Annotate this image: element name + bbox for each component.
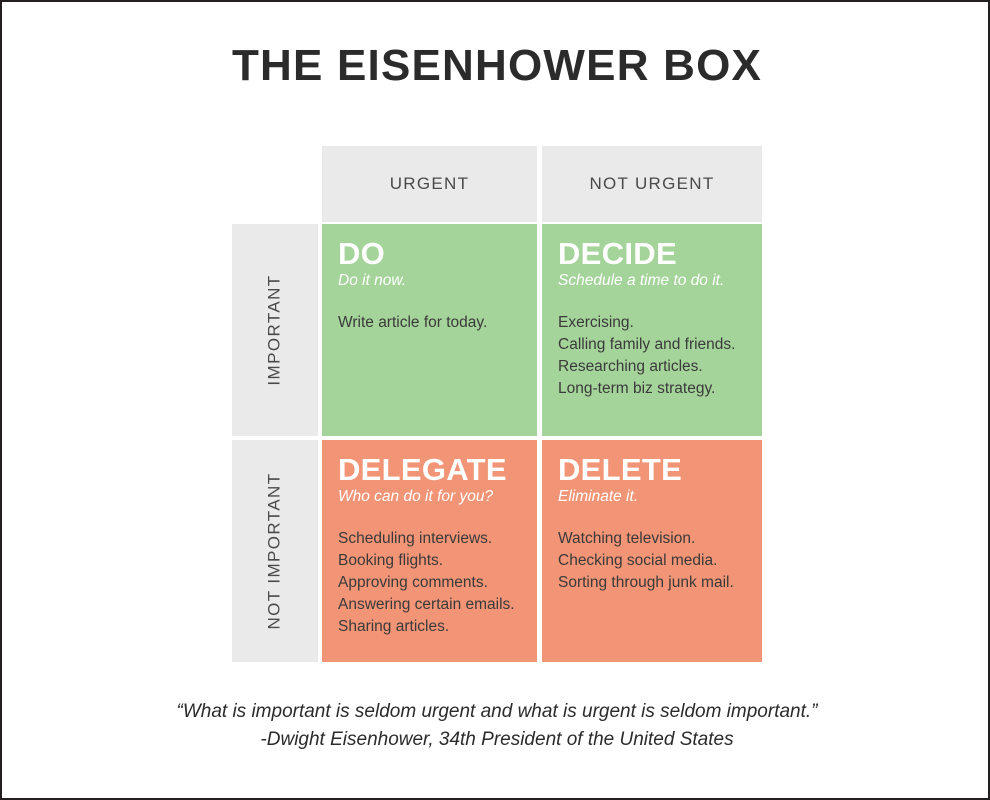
row-header-important-label: IMPORTANT [265, 274, 285, 385]
eisenhower-box-figure: THE EISENHOWER BOX URGENT NOT URGENT IMP… [0, 0, 990, 800]
column-header-urgent: URGENT [322, 146, 537, 222]
attribution-quote: “What is important is seldom urgent and … [2, 698, 990, 753]
quadrant-do-title: DO [338, 238, 521, 269]
row-header-important: IMPORTANT [232, 224, 318, 436]
row-header-not-important: NOT IMPORTANT [232, 440, 318, 662]
quadrant-delete-title: DELETE [558, 454, 746, 485]
row-header-not-important-label: NOT IMPORTANT [265, 472, 285, 629]
list-item: Sorting through junk mail. [558, 572, 746, 594]
list-item: Researching articles. [558, 356, 746, 378]
quadrant-decide-list: Exercising. Calling family and friends. … [558, 312, 746, 400]
quadrant-delegate-list: Scheduling interviews. Booking flights. … [338, 528, 521, 638]
quadrant-delegate-subtitle: Who can do it for you? [338, 488, 521, 506]
list-item: Scheduling interviews. [338, 528, 521, 550]
quadrant-delete-subtitle: Eliminate it. [558, 488, 746, 506]
quadrant-do: DO Do it now. Write article for today. [322, 224, 537, 436]
quadrant-delete-list: Watching television. Checking social med… [558, 528, 746, 594]
column-header-urgent-label: URGENT [390, 174, 470, 194]
quadrant-delete: DELETE Eliminate it. Watching television… [542, 440, 762, 662]
quote-attribution: -Dwight Eisenhower, 34th President of th… [2, 726, 990, 754]
list-item: Long-term biz strategy. [558, 378, 746, 400]
quadrant-delegate: DELEGATE Who can do it for you? Scheduli… [322, 440, 537, 662]
list-item: Write article for today. [338, 312, 521, 334]
list-item: Calling family and friends. [558, 334, 746, 356]
list-item: Exercising. [558, 312, 746, 334]
list-item: Booking flights. [338, 550, 521, 572]
quadrant-decide: DECIDE Schedule a time to do it. Exercis… [542, 224, 762, 436]
list-item: Checking social media. [558, 550, 746, 572]
column-header-not-urgent-label: NOT URGENT [589, 174, 714, 194]
list-item: Sharing articles. [338, 616, 521, 638]
page-title: THE EISENHOWER BOX [2, 42, 990, 90]
list-item: Approving comments. [338, 572, 521, 594]
quadrant-do-subtitle: Do it now. [338, 272, 521, 290]
quadrant-do-list: Write article for today. [338, 312, 521, 334]
list-item: Watching television. [558, 528, 746, 550]
eisenhower-matrix: URGENT NOT URGENT IMPORTANT NOT IMPORTAN… [232, 146, 762, 662]
quadrant-delegate-title: DELEGATE [338, 454, 521, 485]
quadrant-decide-title: DECIDE [558, 238, 746, 269]
column-header-not-urgent: NOT URGENT [542, 146, 762, 222]
quote-text: “What is important is seldom urgent and … [2, 698, 990, 726]
list-item: Answering certain emails. [338, 594, 521, 616]
quadrant-decide-subtitle: Schedule a time to do it. [558, 272, 746, 290]
